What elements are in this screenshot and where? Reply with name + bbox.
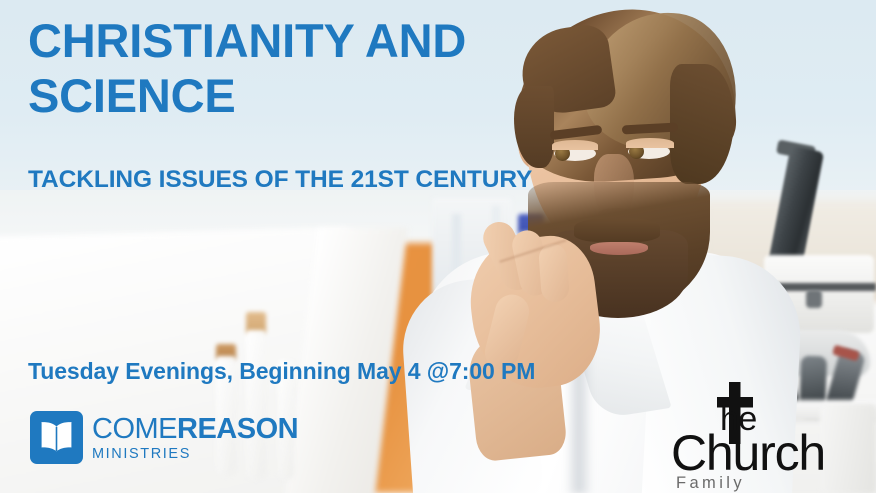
logo-word-come: COME — [92, 413, 177, 445]
schedule-text: Tuesday Evenings, Beginning May 4 @7:00 … — [28, 358, 535, 385]
hair-back — [670, 64, 734, 184]
mustache — [574, 218, 660, 242]
finger-3 — [538, 243, 570, 303]
open-book-icon — [38, 419, 75, 458]
page-title: Christianity and Science — [28, 14, 466, 124]
logo-tagline-ministries: MINISTRIES — [92, 446, 298, 462]
lips — [590, 242, 648, 255]
eyelid-left — [552, 140, 598, 150]
logo-word-reason: REASON — [177, 413, 298, 445]
subtitle: Tackling Issues of the 21st Century — [28, 166, 532, 194]
church-logo-tagline: Family Fellowship — [676, 474, 848, 493]
microscope-focus-knob — [806, 290, 822, 308]
church-logo[interactable]: he Church Family Fellowship — [668, 386, 848, 482]
come-reason-wordmark: COMEREASON MINISTRIES — [92, 413, 298, 462]
come-reason-logo[interactable]: COMEREASON MINISTRIES — [30, 409, 260, 467]
promo-banner: Christianity and Science Tackling Issues… — [0, 0, 876, 493]
eyelid-right — [626, 138, 674, 148]
